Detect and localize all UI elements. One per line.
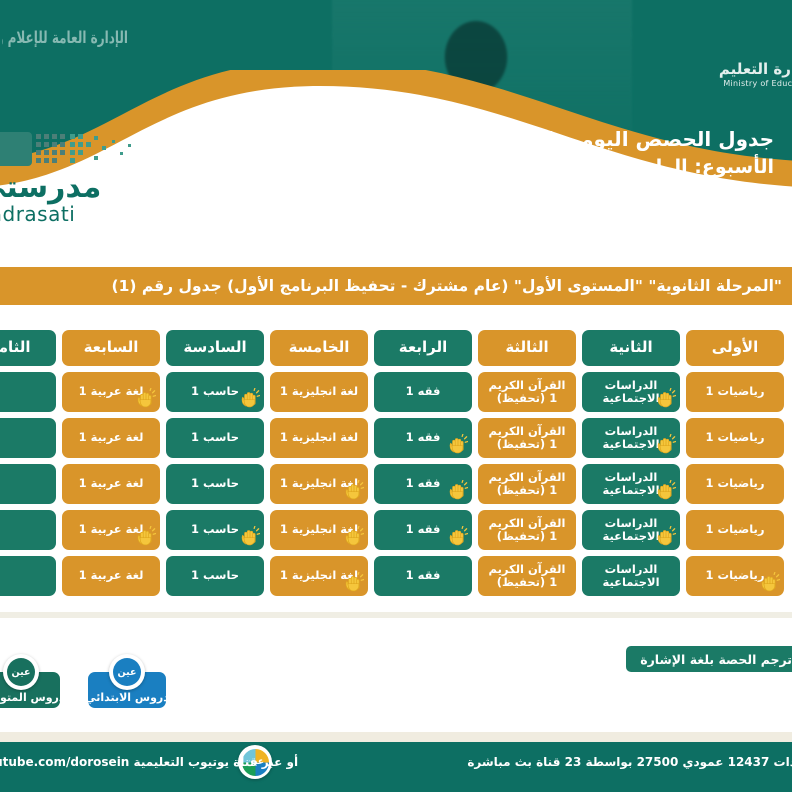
ein-middle-lessons-button[interactable]: عين دروس المتوسط [0,672,60,708]
sign-language-hand-icon [446,480,468,502]
subject-label: الدراسات الاجتماعية [588,563,674,589]
schedule-row: رياضيات 1الدراسات الاجتماعيةالقرآن الكري… [0,510,792,550]
schedule-cell-r4-c1[interactable]: رياضيات 1 [686,510,784,550]
subject-label: حاسب 1 [191,523,239,536]
madrasati-logo: مدرستي Madrasati [0,128,162,228]
period-header-2: الثانية [582,330,680,366]
week-subtitle: الأسبوع: الرابع عشر [475,154,774,182]
subject-label: لغة انجليزية 1 [280,523,358,536]
schedule-table: الأولىالثانيةالثالثةالرابعةالخامسةالسادس… [0,330,792,602]
schedule-cell-r4-c4[interactable]: فقه 1 [374,510,472,550]
period-header-5: الخامسة [270,330,368,366]
schedule-cell-r2-c5[interactable]: لغة انجليزية 1 [270,418,368,458]
subject-label: فقه 1 [406,431,441,444]
schedule-cell-r5-c8[interactable] [0,556,56,596]
schedule-cell-r4-c7[interactable]: لغة عربية 1 [62,510,160,550]
schedule-cell-r2-c4[interactable]: فقه 1 [374,418,472,458]
ein-badge-label: عين [113,658,141,686]
schedule-header-row: الأولىالثانيةالثالثةالرابعةالخامسةالسادس… [0,330,792,366]
subject-label: القرآن الكريم 1 (تحفيظ) [484,379,570,405]
sign-language-badge: ترجم الحصة بلغة الإشارة [626,646,792,672]
schedule-cell-r5-c4[interactable]: فقه 1 [374,556,472,596]
subject-label: فقه 1 [406,477,441,490]
period-header-label: السادسة [183,339,246,356]
schedule-row: رياضيات 1الدراسات الاجتماعيةالقرآن الكري… [0,418,792,458]
schedule-cell-r2-c8[interactable] [0,418,56,458]
schedule-cell-r4-c2[interactable]: الدراسات الاجتماعية [582,510,680,550]
ein-middle-label: دروس المتوسط [0,691,65,704]
schedule-row: رياضيات 1الدراسات الاجتماعيةالقرآن الكري… [0,372,792,412]
footer-youtube-text: أو عبر قناة يوتيوب التعليمية youtube.com… [0,755,298,769]
ein-elementary-label: دروس الابتدائي [85,691,169,704]
madrasati-mark-icon [0,128,162,176]
schedule-cell-r2-c2[interactable]: الدراسات الاجتماعية [582,418,680,458]
schedule-cell-r1-c1[interactable]: رياضيات 1 [686,372,784,412]
footer-top-strip [0,732,792,742]
subject-label: القرآن الكريم 1 (تحفيظ) [484,563,570,589]
schedule-cell-r5-c5[interactable]: لغة انجليزية 1 [270,556,368,596]
subject-label: الدراسات الاجتماعية [588,517,674,543]
schedule-cell-r4-c3[interactable]: القرآن الكريم 1 (تحفيظ) [478,510,576,550]
ministry-name-english: Ministry of Education [694,79,792,88]
subject-label: القرآن الكريم 1 (تحفيظ) [484,425,570,451]
ministry-name-arabic: وزارة التعليم [694,60,792,78]
subject-label: رياضيات 1 [706,431,765,444]
schedule-cell-r3-c1[interactable]: رياضيات 1 [686,464,784,504]
period-header-label: الخامسة [289,339,350,356]
subject-label: لغة انجليزية 1 [280,477,358,490]
subject-label: رياضيات 1 [706,477,765,490]
subject-label: رياضيات 1 [706,569,765,582]
schedule-cell-r2-c6[interactable]: حاسب 1 [166,418,264,458]
schedule-cell-r4-c8[interactable] [0,510,56,550]
schedule-cell-r1-c5[interactable]: لغة انجليزية 1 [270,372,368,412]
subject-label: القرآن الكريم 1 (تحفيظ) [484,471,570,497]
schedule-subtitle-banner: "المرحلة الثانوية" "المستوى الأول" (عام … [0,267,792,305]
subject-label: لغة عربية 1 [79,431,144,444]
period-header-label: السابعة [84,339,139,356]
logo-text-english: Madrasati [0,202,75,226]
ein-badge-label-middle: عين [7,658,35,686]
schedule-cell-r3-c7[interactable]: لغة عربية 1 [62,464,160,504]
schedule-cell-r4-c5[interactable]: لغة انجليزية 1 [270,510,368,550]
schedule-cell-r2-c7[interactable]: لغة عربية 1 [62,418,160,458]
ein-logo-icon-middle: عين [3,654,39,690]
period-header-7: السابعة [62,330,160,366]
period-header-label: الثامنة [0,339,31,356]
period-header-label: الثالثة [505,339,548,356]
schedule-cell-r3-c2[interactable]: الدراسات الاجتماعية [582,464,680,504]
logo-text-arabic: مدرستي [0,170,101,205]
schedule-cell-r2-c1[interactable]: رياضيات 1 [686,418,784,458]
schedule-cell-r1-c3[interactable]: القرآن الكريم 1 (تحفيظ) [478,372,576,412]
ministry-logo: وزارة التعليم Ministry of Education [694,60,792,88]
schedule-cell-r5-c3[interactable]: القرآن الكريم 1 (تحفيظ) [478,556,576,596]
schedule-cell-r3-c5[interactable]: لغة انجليزية 1 [270,464,368,504]
period-header-label: الأولى [712,339,758,356]
sign-language-hand-icon [446,526,468,548]
period-header-label: الثانية [609,339,652,356]
period-header-8: الثامنة [0,330,56,366]
period-header-3: الثالثة [478,330,576,366]
schedule-cell-r5-c1[interactable]: رياضيات 1 [686,556,784,596]
subject-label: فقه 1 [406,385,441,398]
subject-label: حاسب 1 [191,385,239,398]
subject-label: لغة عربية 1 [79,385,144,398]
subject-label: الدراسات الاجتماعية [588,425,674,451]
subject-label: لغة عربية 1 [79,569,144,582]
subject-label: لغة عربية 1 [79,523,144,536]
subject-label: الدراسات الاجتماعية [588,471,674,497]
schedule-cell-r1-c6[interactable]: حاسب 1 [166,372,264,412]
subject-label: لغة انجليزية 1 [280,569,358,582]
footer-frequencies-text: ترددات 12437 عمودي 27500 بواسطة 23 قناة … [467,755,792,769]
subject-label: القرآن الكريم 1 (تحفيظ) [484,517,570,543]
schedule-cell-r1-c8[interactable] [0,372,56,412]
government-calligraphy-text: الإدارة العامة للإعلام والاتصال [2,28,128,69]
schedule-cell-r3-c3[interactable]: القرآن الكريم 1 (تحفيظ) [478,464,576,504]
subject-label: حاسب 1 [191,477,239,490]
header-title-block: جدول الحصص اليومي للدروس الأسبوع: الرابع… [475,125,774,182]
ein-logo-icon: عين [109,654,145,690]
period-header-6: السادسة [166,330,264,366]
schedule-cell-r3-c6[interactable]: حاسب 1 [166,464,264,504]
subject-label: فقه 1 [406,569,441,582]
ein-elementary-lessons-button[interactable]: عين دروس الابتدائي [88,672,166,708]
schedule-cell-r1-c4[interactable]: فقه 1 [374,372,472,412]
subject-label: حاسب 1 [191,431,239,444]
content-divider [0,612,792,618]
schedule-cell-r2-c3[interactable]: القرآن الكريم 1 (تحفيظ) [478,418,576,458]
sign-language-hand-icon [238,526,260,548]
page-header: الإدارة العامة للإعلام والاتصال وزارة ال… [0,0,792,258]
schedule-cell-r5-c6[interactable]: حاسب 1 [166,556,264,596]
subject-label: لغة انجليزية 1 [280,431,358,444]
schedule-row: رياضيات 1الدراسات الاجتماعيةالقرآن الكري… [0,556,792,596]
period-header-4: الرابعة [374,330,472,366]
schedule-cell-r1-c2[interactable]: الدراسات الاجتماعية [582,372,680,412]
schedule-cell-r3-c8[interactable] [0,464,56,504]
period-header-label: الرابعة [399,339,447,356]
schedule-row: رياضيات 1الدراسات الاجتماعيةالقرآن الكري… [0,464,792,504]
schedule-cell-r1-c7[interactable]: لغة عربية 1 [62,372,160,412]
subject-label: رياضيات 1 [706,385,765,398]
sign-language-hand-icon [238,388,260,410]
sign-language-hand-icon [446,434,468,456]
page-footer: ترددات 12437 عمودي 27500 بواسطة 23 قناة … [0,732,792,792]
schedule-cell-r5-c2[interactable]: الدراسات الاجتماعية [582,556,680,596]
page-title: جدول الحصص اليومي للدروس [475,125,774,154]
subject-label: حاسب 1 [191,569,239,582]
subject-label: لغة انجليزية 1 [280,385,358,398]
period-header-1: الأولى [686,330,784,366]
subject-label: الدراسات الاجتماعية [588,379,674,405]
schedule-cell-r3-c4[interactable]: فقه 1 [374,464,472,504]
subject-label: فقه 1 [406,523,441,536]
subject-label: رياضيات 1 [706,523,765,536]
schedule-cell-r4-c6[interactable]: حاسب 1 [166,510,264,550]
subject-label: لغة عربية 1 [79,477,144,490]
schedule-cell-r5-c7[interactable]: لغة عربية 1 [62,556,160,596]
